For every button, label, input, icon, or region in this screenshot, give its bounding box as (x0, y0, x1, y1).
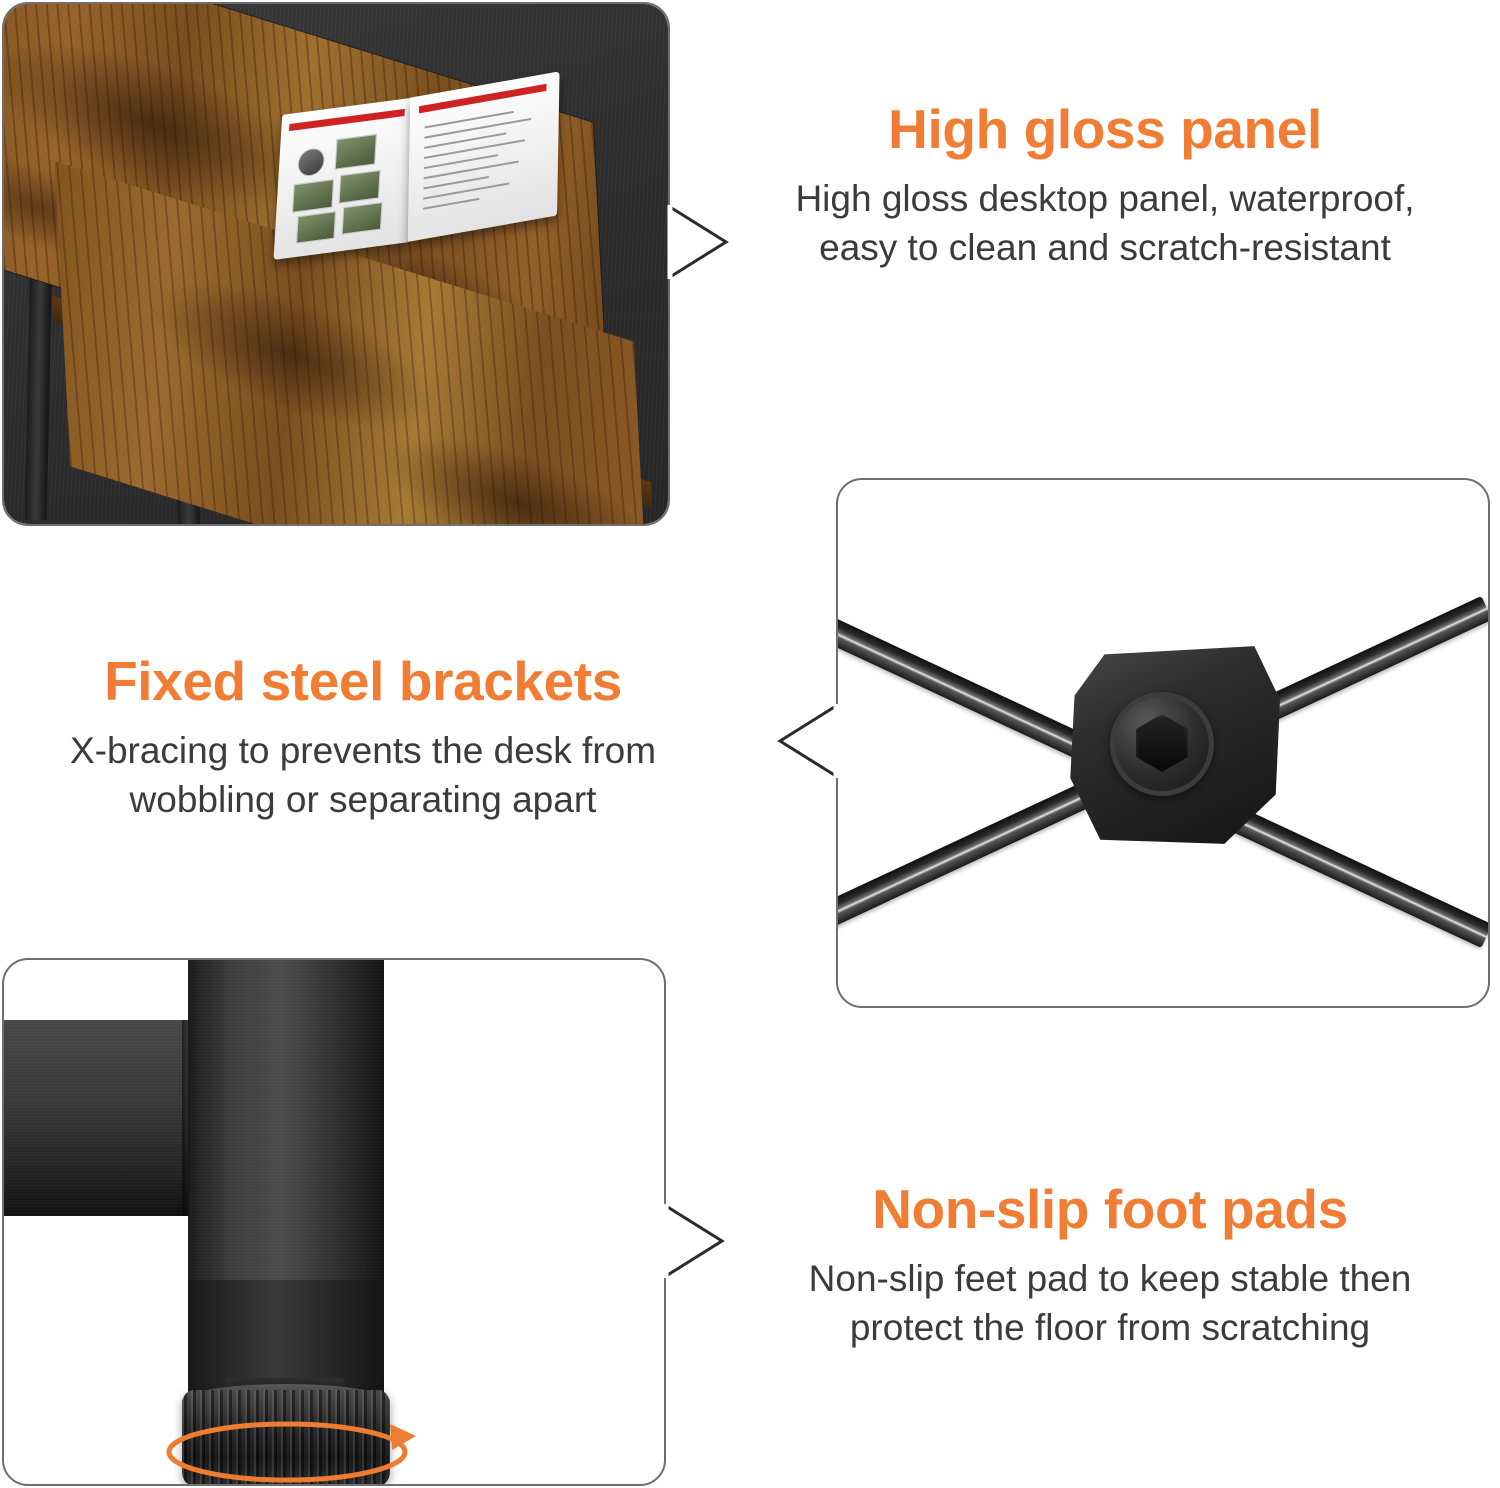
book-thumbnail (296, 211, 337, 244)
book-page-right (408, 71, 559, 241)
feature-description-line: X-bracing to prevents the desk from (18, 727, 708, 776)
book-thumbnail (297, 147, 326, 178)
book-text-line (424, 197, 481, 209)
book-text-line (425, 111, 514, 129)
feature-description-line: High gloss desktop panel, waterproof, (760, 175, 1450, 224)
foot-pad-photo-clip (4, 960, 664, 1484)
book-red-header-bar (289, 109, 405, 131)
feature-description: High gloss desktop panel, waterproof, ea… (760, 175, 1450, 273)
book-text-line (424, 160, 519, 179)
x-bracket-photo-clip (838, 480, 1488, 1006)
feature-description-line: protect the floor from scratching (760, 1304, 1460, 1353)
book-thumbnail (292, 179, 334, 213)
feature-text-fixed-steel-brackets: Fixed steel brackets X-bracing to preven… (18, 652, 708, 825)
hex-bolt (1110, 692, 1214, 796)
callout-pointer-right-foot (664, 1204, 726, 1278)
desk-photo-panel (2, 2, 670, 526)
book-text-line (425, 118, 532, 139)
book-thumbnail (335, 134, 377, 170)
feature-description-line: Non-slip feet pad to keep stable then (760, 1255, 1460, 1304)
book-page-left (273, 97, 416, 260)
feature-title: Fixed steel brackets (18, 652, 708, 711)
feature-text-high-gloss-panel: High gloss panel High gloss desktop pane… (760, 100, 1450, 273)
feature-description: Non-slip feet pad to keep stable then pr… (760, 1255, 1460, 1353)
callout-pointer-left-bracket (776, 704, 838, 778)
foot-pad-photo-panel (2, 958, 666, 1486)
leg-shadow-edge (182, 1020, 192, 1216)
x-bracket-photo-panel (836, 478, 1490, 1008)
callout-pointer-right-desk (668, 205, 730, 279)
feature-title: High gloss panel (760, 100, 1450, 159)
book-thumbnail (338, 170, 380, 204)
desk-photo-clip (4, 4, 668, 524)
feature-text-non-slip-foot-pads: Non-slip foot pads Non-slip feet pad to … (760, 1180, 1460, 1353)
hex-socket-icon (1136, 714, 1188, 772)
book-text-line (425, 139, 526, 159)
book-thumbnail (342, 202, 383, 235)
feature-description-line: wobbling or separating apart (18, 776, 708, 825)
feature-description: X-bracing to prevents the desk from wobb… (18, 727, 708, 825)
vertical-desk-leg-lower (188, 1280, 384, 1390)
feature-title: Non-slip foot pads (760, 1180, 1460, 1239)
feature-description-line: easy to clean and scratch-resistant (760, 224, 1450, 273)
rotation-arrow-icon (154, 1406, 420, 1484)
